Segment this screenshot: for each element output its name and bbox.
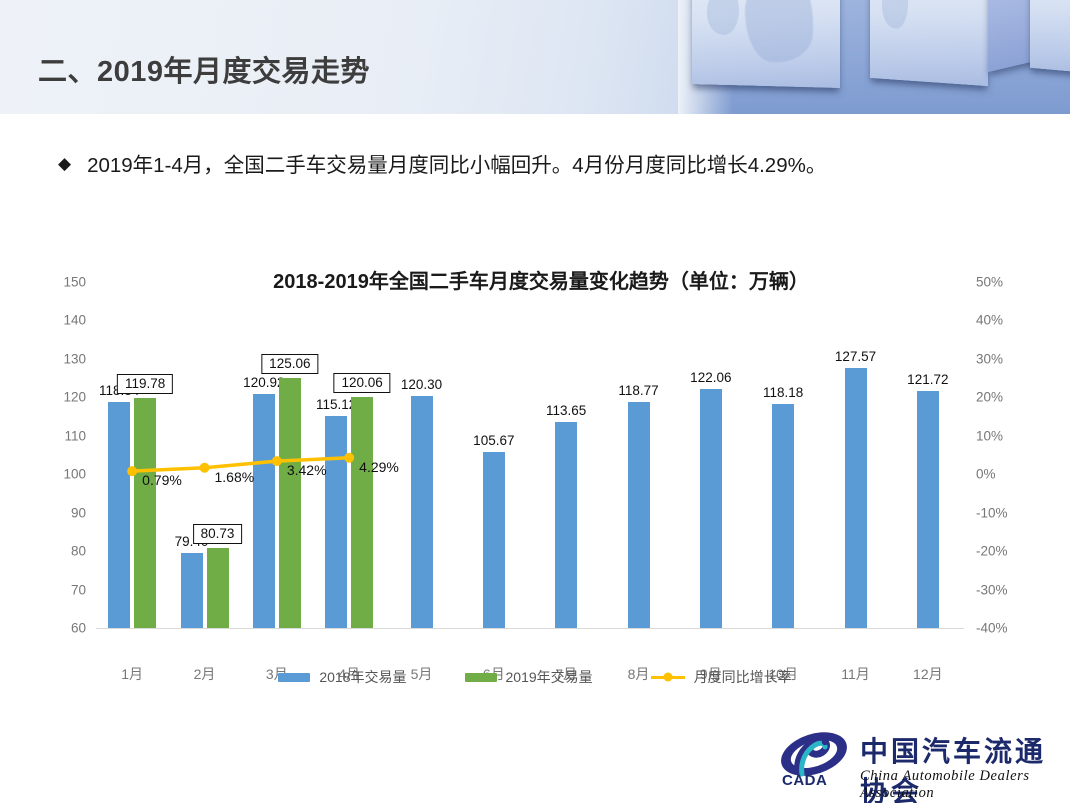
legend-line-marker-icon (651, 676, 685, 679)
page-title: 二、2019年月度交易走势 (38, 48, 370, 90)
growth-rate-label: 1.68% (215, 469, 255, 485)
growth-rate-line (96, 282, 964, 628)
legend-color-swatch (465, 673, 497, 682)
y2-axis-tick: 10% (976, 428, 1003, 443)
header-decoration-image (678, 0, 1070, 114)
chart: 2018-2019年全国二手车月度交易量变化趋势（单位：万辆） 60708090… (0, 255, 1070, 705)
y2-axis-tick: -20% (976, 544, 1008, 559)
legend-item-0[interactable]: 2018年交易量 (278, 667, 406, 687)
cada-abbr: CADA (782, 772, 827, 789)
y2-axis-tick: -30% (976, 582, 1008, 597)
bullet-text: 2019年1-4月，全国二手车交易量月度同比小幅回升。4月份月度同比增长4.29… (87, 152, 826, 180)
y2-axis-tick: -40% (976, 621, 1008, 636)
diamond-bullet-icon: ◆ (58, 152, 71, 176)
y-axis-tick: 130 (63, 351, 86, 366)
y-axis-tick: 140 (63, 313, 86, 328)
y2-axis-tick: 40% (976, 313, 1003, 328)
y2-axis-tick: -10% (976, 505, 1008, 520)
y2-axis-tick: 30% (976, 351, 1003, 366)
cube-shape-2 (870, 0, 988, 86)
globe-outline-icon-3 (882, 0, 908, 29)
globe-outline-icon (745, 0, 813, 64)
legend-label: 月度同比增长率 (694, 667, 792, 687)
y-axis-tick: 90 (71, 505, 86, 520)
growth-rate-label: 0.79% (142, 472, 182, 488)
bullet-point: ◆ 2019年1-4月，全国二手车交易量月度同比小幅回升。4月份月度同比增长4.… (58, 152, 826, 180)
logo-english-name: China Automobile Dealers Association (860, 768, 1064, 802)
globe-outline-icon-2 (707, 0, 740, 36)
legend-item-2[interactable]: 月度同比增长率 (651, 667, 792, 687)
y-axis-tick: 100 (63, 467, 86, 482)
cada-logo: CADA 中国汽车流通协会 China Automobile Dealers A… (778, 726, 1064, 794)
y2-axis-tick: 20% (976, 390, 1003, 405)
y-axis-tick: 60 (71, 621, 86, 636)
cube-shape-3 (1030, 0, 1070, 76)
y-axis-tick: 70 (71, 582, 86, 597)
legend-color-swatch (278, 673, 310, 682)
y-axis-tick: 80 (71, 544, 86, 559)
plot-area: 60708090100110120130140150-40%-30%-20%-1… (96, 282, 964, 628)
cube-shape-1 (692, 0, 840, 88)
y-axis-tick: 110 (64, 428, 86, 443)
legend-label: 2019年交易量 (506, 667, 593, 687)
y2-axis-tick: 0% (976, 467, 996, 482)
y-axis-tick: 120 (63, 390, 86, 405)
slide-header: 二、2019年月度交易走势 (0, 0, 1070, 114)
growth-rate-label: 4.29% (359, 459, 399, 475)
legend-item-1[interactable]: 2019年交易量 (465, 667, 593, 687)
growth-rate-label: 3.42% (287, 462, 327, 478)
x-axis-line (96, 628, 964, 629)
y-axis-tick: 150 (63, 275, 86, 290)
y2-axis-tick: 50% (976, 275, 1003, 290)
legend-label: 2018年交易量 (319, 667, 406, 687)
chart-legend: 2018年交易量2019年交易量月度同比增长率 (0, 667, 1070, 687)
slide: 二、2019年月度交易走势 ◆ 2019年1-4月，全国二手车交易量月度同比小幅… (0, 0, 1070, 803)
